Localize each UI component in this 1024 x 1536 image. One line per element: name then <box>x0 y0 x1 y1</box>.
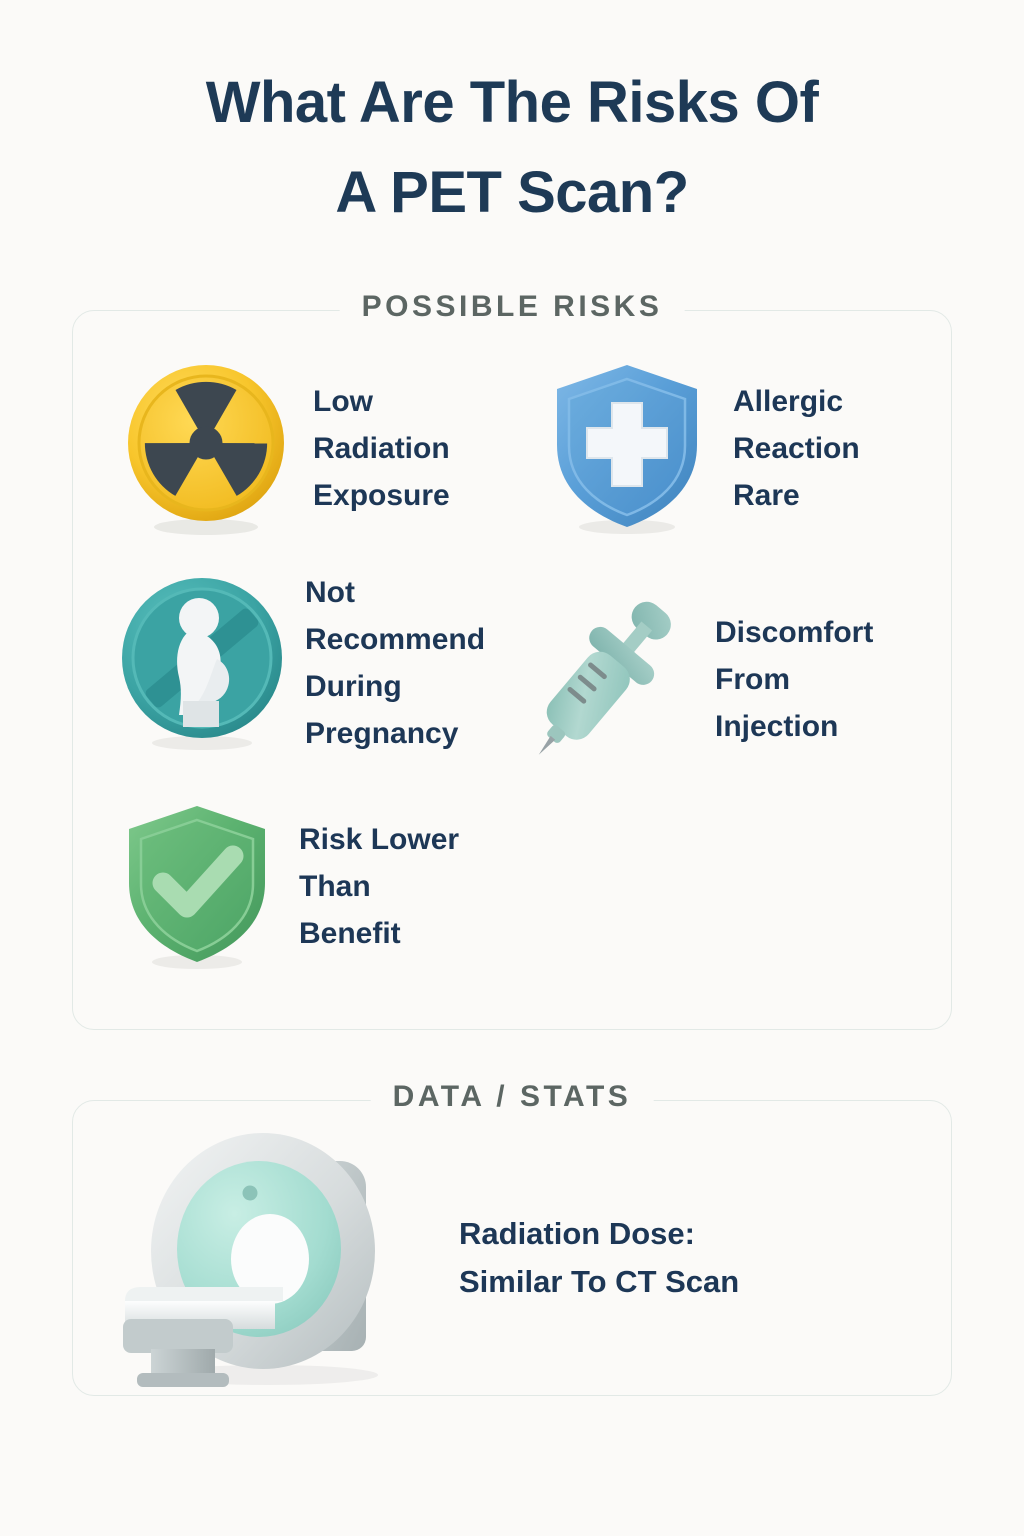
page-title-line-1: What Are The Risks Of <box>0 58 1024 148</box>
risk-item-not-recommend-during-pregnancy: Not Recommend During Pregnancy <box>117 569 485 757</box>
data-stats-card: DATA / STATS <box>72 1100 952 1396</box>
risk-item-low-radiation-exposure: Low Radiation Exposure <box>117 359 450 537</box>
syringe-icon <box>501 579 701 779</box>
radiation-icon <box>117 359 295 537</box>
shield-cross-icon <box>543 359 711 537</box>
risk-item-label: Not Recommend During Pregnancy <box>305 569 485 757</box>
risk-item-discomfort-from-injection: Discomfort From Injection <box>501 579 873 779</box>
no-pregnancy-icon <box>117 573 287 753</box>
risk-item-label: Discomfort From Injection <box>715 609 873 750</box>
stat-item-radiation-dose: Radiation Dose: Similar To CT Scan <box>103 1123 739 1393</box>
risk-item-risk-lower-than-benefit: Risk Lower Than Benefit <box>117 801 459 971</box>
risk-item-label: Risk Lower Than Benefit <box>299 816 459 957</box>
page-title: What Are The Risks Of A PET Scan? <box>0 0 1024 238</box>
stat-item-label: Radiation Dose: Similar To CT Scan <box>459 1210 739 1306</box>
data-stats-heading: DATA / STATS <box>371 1080 654 1114</box>
risk-item-label: Low Radiation Exposure <box>313 378 450 519</box>
shield-check-icon <box>117 801 277 971</box>
risk-item-allergic-reaction-rare: Allergic Reaction Rare <box>543 359 860 537</box>
page-title-line-2: A PET Scan? <box>0 148 1024 238</box>
risk-item-label: Allergic Reaction Rare <box>733 378 860 519</box>
ct-scanner-icon <box>103 1123 413 1393</box>
possible-risks-card: POSSIBLE RISKS <box>72 310 952 1030</box>
